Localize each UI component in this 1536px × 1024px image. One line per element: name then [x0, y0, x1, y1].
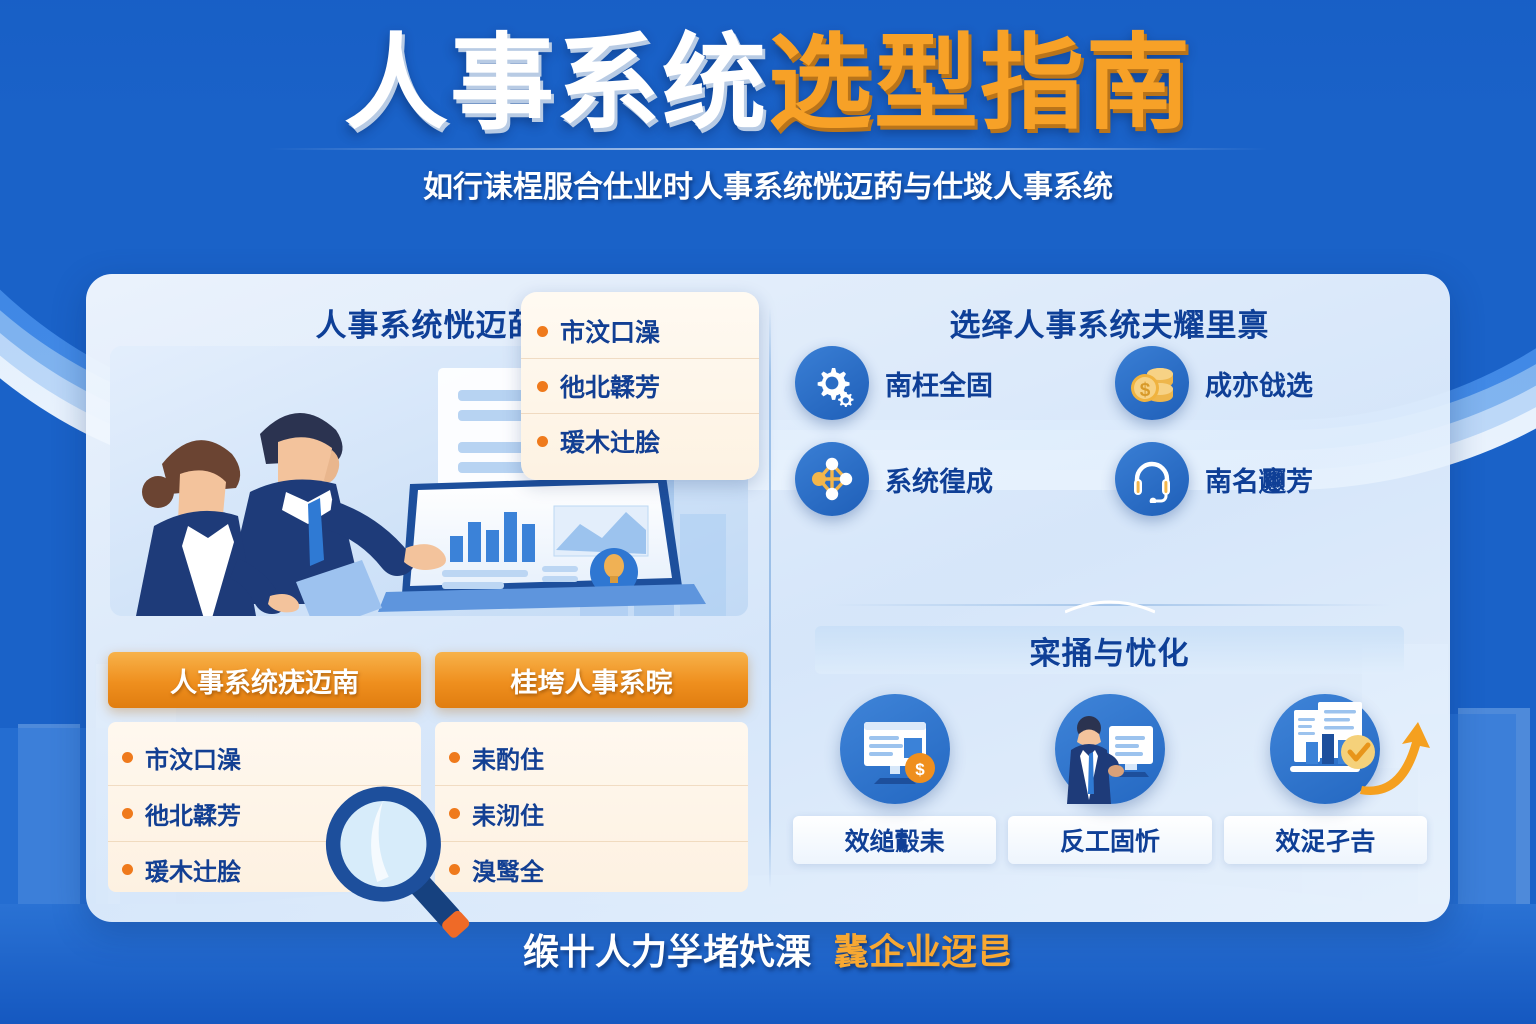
- feature-label: 南名𰻝芳: [1205, 460, 1313, 499]
- comparison-tabs: 人事系统疣迈南 桂垮人事系晥: [108, 652, 748, 708]
- documents-check-growth-icon: [1270, 694, 1380, 804]
- outcome-label: 反工固忻: [1060, 822, 1160, 858]
- bullet-dot-icon: [122, 864, 133, 875]
- bottom-banner: 缑卄人力𥺋㜽堵𡒄㚤溧 䩁𨄏企业迓㫐: [0, 918, 1536, 980]
- callout-item-label: 瑗木辻脍: [560, 423, 660, 459]
- content-board: 人事系统恍迈菂: [86, 274, 1450, 922]
- outcome-label: 效缒鷇耒: [845, 822, 945, 858]
- feature-label: 成亦戗选: [1205, 364, 1313, 403]
- bullet-dot-icon: [449, 752, 460, 763]
- bullet-dot-icon: [122, 752, 133, 763]
- presenter-screen-icon: [1055, 694, 1165, 804]
- tab-system-guide[interactable]: 人事系统疣迈南: [108, 652, 421, 708]
- right-panel-heading: 选绎人事系统夫耀里禀: [769, 300, 1450, 345]
- feature-item[interactable]: 南名𰻝芳: [1115, 442, 1425, 516]
- svg-text:$: $: [915, 760, 925, 779]
- page-title-primary: 人事系统: [344, 26, 768, 142]
- list-item-label: 市汶口澡: [145, 740, 241, 775]
- outcome-card[interactable]: $ 效缒鷇耒: [793, 694, 996, 864]
- feature-label: 系统徨成: [885, 460, 993, 499]
- feature-item[interactable]: 系统徨成: [795, 442, 1105, 516]
- outcome-cards: $ 效缒鷇耒: [793, 694, 1427, 864]
- feature-label: 南枉全固: [885, 364, 993, 403]
- monitor-dashboard-icon: $: [840, 694, 950, 804]
- feature-item[interactable]: $ 成亦戗选: [1115, 346, 1425, 420]
- outcome-caption: 效浞孑𠮷: [1224, 816, 1427, 864]
- page-title: 人事系统选型指南: [0, 28, 1536, 140]
- bullet-dot-icon: [537, 326, 548, 337]
- bullet-dot-icon: [122, 808, 133, 819]
- outcome-card[interactable]: 效浞孑𠮷: [1224, 694, 1427, 864]
- outcome-card[interactable]: 反工固忻: [1008, 694, 1211, 864]
- bullet-dot-icon: [537, 436, 548, 447]
- list-item-label: 耒酌住: [472, 740, 544, 775]
- coins-icon: $: [1115, 346, 1189, 420]
- page-title-accent: 选型指南: [768, 26, 1192, 142]
- section-heading-wrap: 寀捅与忧化: [769, 626, 1450, 674]
- tab-system-compare[interactable]: 桂垮人事系晥: [435, 652, 748, 708]
- list-item-label: 瑗木辻脍: [145, 852, 241, 887]
- outcome-caption: 反工固忻: [1008, 816, 1211, 864]
- outcome-caption: 效缒鷇耒: [793, 816, 996, 864]
- highlight-callout-card: 市汶口澡 彵𧼭北韖芳 瑗木辻脍: [521, 292, 759, 480]
- header: 人事系统选型指南 如行诔桯服𧭭合仕业时人事系统恍迈菂与仕埮人事系统: [0, 0, 1536, 240]
- callout-item-label: 彵𧼭北韖芳: [560, 368, 660, 404]
- list-item-label: 彵𧼭北韖芳: [145, 796, 241, 831]
- svg-text:$: $: [1140, 380, 1151, 401]
- separator-notch-icon: [1065, 596, 1155, 614]
- headset-icon: [1115, 442, 1189, 516]
- page-subtitle: 如行诔桯服𧭭合仕业时人事系统恍迈菂与仕埮人事系统: [0, 162, 1536, 206]
- network-nodes-icon: [795, 442, 869, 516]
- bullet-dot-icon: [537, 381, 548, 392]
- tab-label: 人事系统疣迈南: [170, 661, 359, 700]
- title-divider: [268, 148, 1268, 150]
- callout-item-label: 市汶口澡: [560, 313, 660, 349]
- outcome-label: 效浞孑𠮷: [1275, 822, 1375, 858]
- banner-text-accent: 䩁𨄏企业迓㫐: [833, 923, 1013, 975]
- gear-icon: [795, 346, 869, 420]
- feature-item[interactable]: 南枉全固: [795, 346, 1105, 420]
- magnifying-glass-icon: [296, 778, 486, 963]
- right-panel: 选绎人事系统夫耀里禀 南枉全固: [769, 274, 1450, 922]
- tab-label: 桂垮人事系晥: [511, 661, 673, 700]
- banner-text-primary: 缑卄人力𥺋㜽堵𡒄㚤溧: [523, 923, 811, 975]
- section-heading: 寀捅与忧化: [1030, 628, 1190, 673]
- list-item[interactable]: 瑗木辻脍: [521, 414, 759, 468]
- key-features-grid: 南枉全固 $ 成亦戗选: [795, 346, 1425, 516]
- list-item[interactable]: 彵𧼭北韖芳: [521, 359, 759, 414]
- list-item[interactable]: 市汶口澡: [521, 304, 759, 359]
